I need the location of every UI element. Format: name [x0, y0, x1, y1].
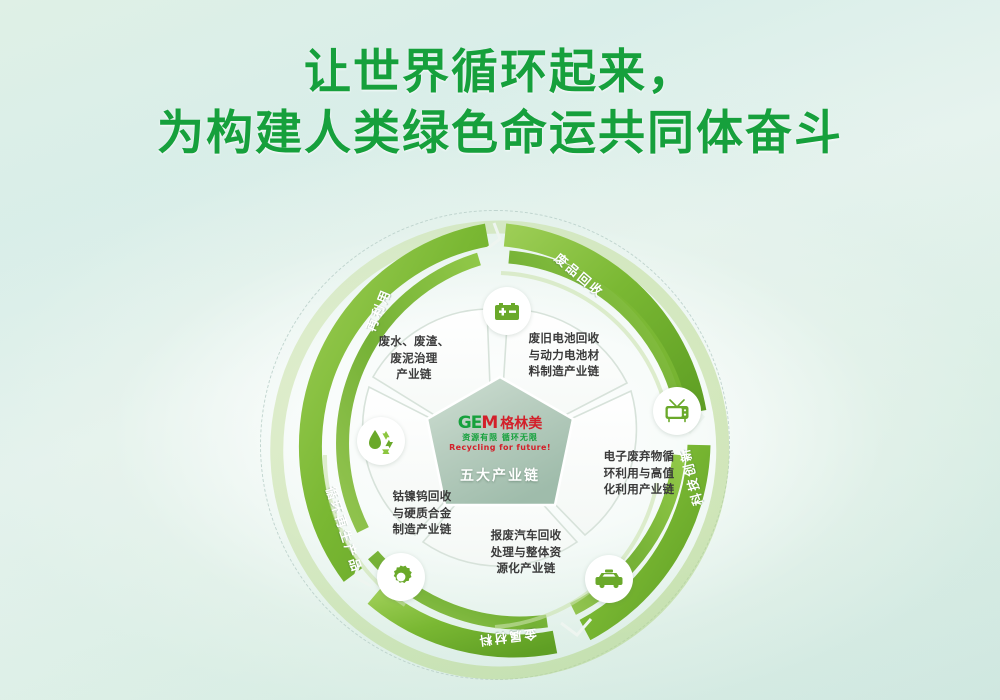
segment-text-water: 废水、废渣、 废泥治理 产业链: [355, 333, 473, 383]
battery-icon-bubble: [483, 287, 531, 335]
television-icon-bubble: [653, 387, 701, 435]
page-title: 让世界循环起来， 为构建人类绿色命运共同体奋斗: [0, 42, 1000, 164]
circular-diagram: GEM 格林美 资源有限 循环无限 Recycling for future! …: [255, 205, 745, 685]
gem-logo: GEM 格林美 资源有限 循环无限 Recycling for future!: [449, 415, 551, 452]
battery-icon: [494, 300, 520, 322]
segment-text-auto: 报废汽车回收 处理与整体资 源化产业链: [467, 527, 585, 577]
car-icon-bubble: [585, 555, 633, 603]
logo-slogan-cn: 资源有限 循环无限: [449, 434, 551, 442]
center-label: 五大产业链: [460, 465, 540, 485]
television-icon: [664, 399, 690, 423]
logo-slogan-en: Recycling for future!: [449, 444, 551, 452]
water-recycle-icon-bubble: [357, 417, 405, 465]
gear-icon: [388, 564, 414, 590]
page-title-line-1: 让世界循环起来，: [0, 42, 1000, 103]
car-icon: [595, 569, 623, 589]
logo-latin: GEM: [458, 415, 498, 432]
center-logo-block: GEM 格林美 资源有限 循环无限 Recycling for future! …: [433, 387, 567, 513]
page-title-line-2: 为构建人类绿色命运共同体奋斗: [0, 103, 1000, 164]
logo-chinese-brand: 格林美: [500, 417, 542, 431]
gear-icon-bubble: [377, 553, 425, 601]
water-recycle-icon: [367, 428, 395, 454]
segment-text-battery: 废旧电池回收 与动力电池材 料制造产业链: [505, 330, 623, 380]
